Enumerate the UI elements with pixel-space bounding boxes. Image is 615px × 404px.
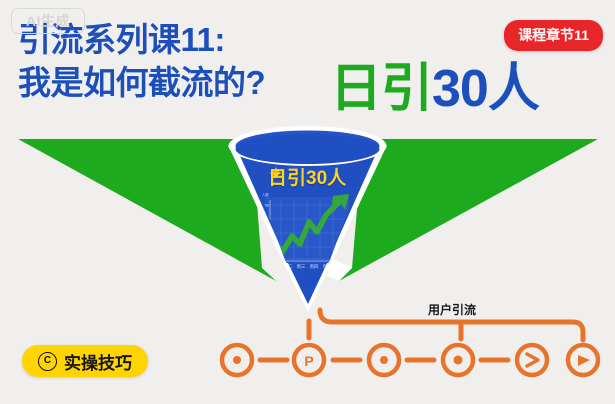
funnel-notch xyxy=(327,258,352,281)
chapter-badge[interactable]: 课程章节11 xyxy=(504,20,603,51)
flow-node-6 xyxy=(568,345,598,375)
funnel-rim-shade xyxy=(236,134,380,164)
flow-node-3 xyxy=(369,345,399,375)
flow-node-4 xyxy=(443,345,473,375)
highlight-metric-value: 30人 xyxy=(432,60,539,118)
tips-badge[interactable]: C 实操技巧 xyxy=(22,345,148,377)
funnel-mini-chart: 人数 300 200 100 周一 周二 周三 周四 周五 周六 xyxy=(261,192,349,270)
flow-node-5 xyxy=(517,345,547,375)
svg-text:周一: 周一 xyxy=(271,264,280,270)
flow-label: 用户引流 xyxy=(428,301,476,318)
flow-diagram: P xyxy=(222,310,598,375)
poster-canvas: 人数 300 200 100 周一 周二 周三 周四 周五 周六 xyxy=(0,0,615,404)
tips-badge-label: 实操技巧 xyxy=(64,349,132,374)
highlight-metric: 日引30人 xyxy=(330,63,539,115)
flow-node-1 xyxy=(222,345,252,375)
svg-text:P: P xyxy=(304,353,313,369)
ai-watermark-icon: AI生成 xyxy=(11,8,85,34)
flow-node-2: P xyxy=(294,345,324,375)
svg-text:人数: 人数 xyxy=(262,192,270,197)
highlight-metric-prefix: 日引 xyxy=(330,60,432,118)
headline-line-2: 我是如何截流的? xyxy=(18,61,265,104)
copyright-icon: C xyxy=(38,352,57,371)
svg-text:100: 100 xyxy=(261,231,269,236)
